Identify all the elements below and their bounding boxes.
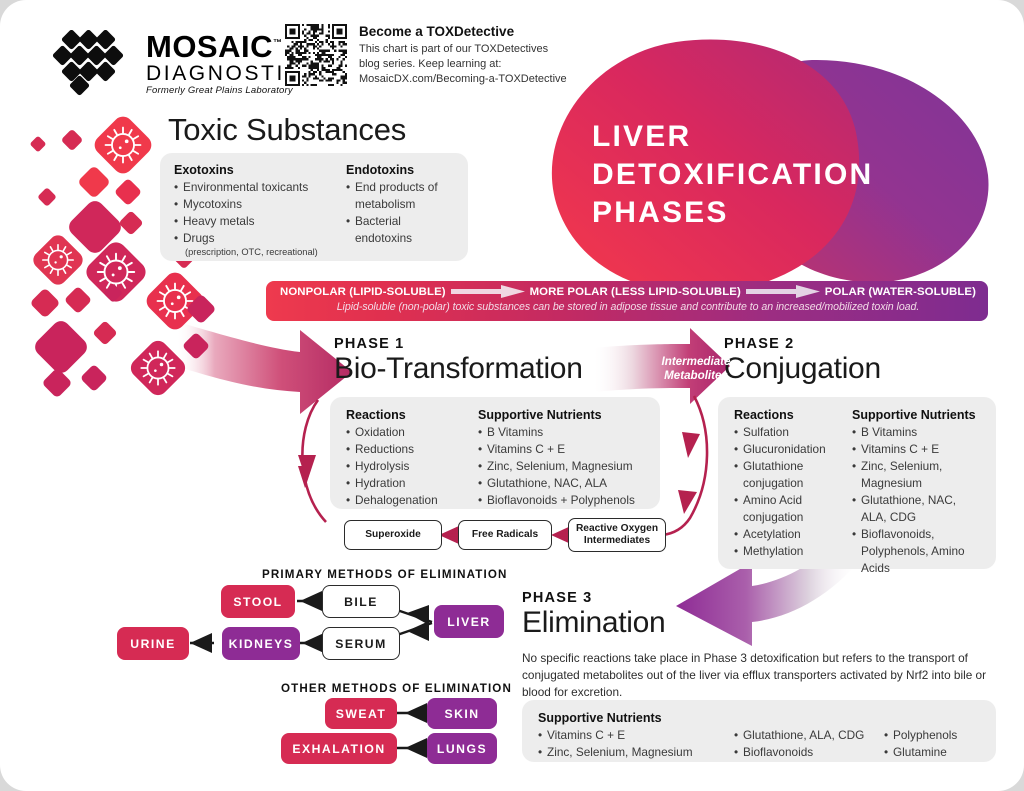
phase2-detail-box: Reactions Sulfation Glucuronidation Glut… <box>718 397 996 569</box>
promo-url[interactable]: MosaicDX.com/Becoming-a-TOXDetective <box>359 72 567 87</box>
exotoxins-list: Environmental toxicants Mycotoxins Heavy… <box>174 179 330 258</box>
mosaic-diamond-logo-icon <box>48 30 132 96</box>
list-item: Hydrolysis <box>346 458 478 475</box>
toxin-germ-particle <box>90 112 155 177</box>
exotoxins-fineprint: (prescription, OTC, recreational) <box>183 247 330 258</box>
phase1-kicker: PHASE 1 <box>334 336 583 352</box>
phase3-nutrients-col3: Polyphenols Glutamine <box>884 727 957 761</box>
arrow-right-icon <box>746 285 820 298</box>
phase1-nutrients-list: B Vitamins Vitamins C + E Zinc, Selenium… <box>478 424 635 509</box>
toxic-substances-heading: Toxic Substances <box>168 112 406 148</box>
phase1-detail-box: Reactions Oxidation Reductions Hydrolysi… <box>330 397 660 509</box>
list-item: Reductions <box>346 441 478 458</box>
polarity-label-more-polar: MORE POLAR (LESS LIPID-SOLUBLE) <box>530 286 741 298</box>
hero-title-line-3: PHASES <box>592 194 873 232</box>
qr-code-icon[interactable] <box>285 24 347 86</box>
chip-free-radicals: Free Radicals <box>458 520 552 550</box>
toxin-particle <box>30 136 47 153</box>
phase2-kicker: PHASE 2 <box>724 336 881 352</box>
primary-elimination-heading: PRIMARY METHODS OF ELIMINATION <box>262 568 508 581</box>
node-liver: LIVER <box>434 605 504 638</box>
polarity-label-nonpolar: NONPOLAR (LIPID-SOLUBLE) <box>280 286 446 298</box>
phase1-reactions-title: Reactions <box>346 408 478 422</box>
promo-line-2: blog series. Keep learning at: <box>359 57 567 72</box>
endotoxins-column: Endotoxins End products of metabolism Ba… <box>346 163 454 251</box>
list-item: Bacterial endotoxins <box>346 213 454 247</box>
list-item: Acetylation <box>734 526 852 543</box>
list-item: Vitamins C + E <box>538 727 734 744</box>
phase1-reactions-column: Reactions Oxidation Reductions Hydrolysi… <box>346 408 478 509</box>
phase1-nutrients-title: Supportive Nutrients <box>478 408 635 422</box>
infographic-canvas: MOSAIC™ DIAGNOSTICS Formerly Great Plain… <box>0 0 1024 791</box>
toxin-particle <box>31 317 90 376</box>
promo-title: Become a TOXDetective <box>359 24 567 39</box>
phase2-nutrients-column: Supportive Nutrients B Vitamins Vitamins… <box>852 408 976 577</box>
list-item: Glutamine <box>884 744 957 761</box>
toxin-particle <box>118 210 143 235</box>
phase2-nutrients-list: B Vitamins Vitamins C + E Zinc, Selenium… <box>852 424 974 577</box>
list-item: Dehalogenation <box>346 492 478 509</box>
list-item: B Vitamins <box>478 424 635 441</box>
phase3-header: PHASE 3 Elimination <box>522 590 665 640</box>
hero-title-line-2: DETOXIFICATION <box>592 156 873 194</box>
list-item: Vitamins C + E <box>478 441 635 458</box>
list-item: Methylation <box>734 543 852 560</box>
list-item: End products of metabolism <box>346 179 454 213</box>
toxin-particle <box>61 129 84 152</box>
phase3-nutrients-col2: Glutathione, ALA, CDG Bioflavonoids <box>734 727 884 761</box>
chip-reactive-oxygen-intermediates: Reactive Oxygen Intermediates <box>568 518 666 552</box>
hero-title-line-1: LIVER <box>592 118 873 156</box>
phase3-title: Elimination <box>522 606 665 640</box>
list-item: Zinc, Selenium, Magnesium <box>538 744 734 761</box>
list-item: Zinc, Selenium, Magnesium <box>852 458 974 492</box>
toxin-particle <box>37 187 57 207</box>
other-elimination-heading: OTHER METHODS OF ELIMINATION <box>281 682 512 695</box>
list-item: Zinc, Selenium, Magnesium <box>478 458 635 475</box>
node-bile: BILE <box>322 585 400 618</box>
list-item: Glutathione conjugation <box>734 458 852 492</box>
phase2-nutrients-title: Supportive Nutrients <box>852 408 976 422</box>
promo-line-1: This chart is part of our TOXDetectives <box>359 42 567 57</box>
intermediate-metabolites-label: Intermediate Metabolites <box>648 355 744 384</box>
polarity-banner: NONPOLAR (LIPID-SOLUBLE) MORE POLAR (LES… <box>266 281 988 321</box>
toxin-particle <box>77 165 111 199</box>
toxin-particle <box>64 286 92 314</box>
phase2-reactions-title: Reactions <box>734 408 852 422</box>
phase3-nutrients-title: Supportive Nutrients <box>538 711 980 725</box>
list-item: Polyphenols <box>884 727 957 744</box>
toxin-particle <box>41 367 72 398</box>
list-item: Hydration <box>346 475 478 492</box>
list-item: Drugs(prescription, OTC, recreational) <box>174 230 330 258</box>
toxin-particle <box>92 320 117 345</box>
node-stool: STOOL <box>221 585 295 618</box>
list-item: Bioflavonoids <box>734 744 884 761</box>
phase1-nutrients-column: Supportive Nutrients B Vitamins Vitamins… <box>478 408 635 509</box>
phase1-title: Bio-Transformation <box>334 352 583 386</box>
phase3-nutrients-col1: Vitamins C + E Zinc, Selenium, Magnesium <box>538 727 734 761</box>
hero-title: LIVER DETOXIFICATION PHASES <box>592 118 873 231</box>
node-kidneys: KIDNEYS <box>222 627 300 660</box>
list-item: Glutathione, NAC, ALA, CDG <box>852 492 974 526</box>
node-serum: SERUM <box>322 627 400 660</box>
list-item: Glucuronidation <box>734 441 852 458</box>
list-item: Environmental toxicants <box>174 179 330 196</box>
toxic-substances-box: Exotoxins Environmental toxicants Mycoto… <box>160 153 468 261</box>
polarity-label-polar: POLAR (WATER-SOLUBLE) <box>825 286 976 298</box>
phase2-title: Conjugation <box>724 352 881 386</box>
node-sweat: SWEAT <box>325 698 397 729</box>
exotoxins-title: Exotoxins <box>174 163 330 177</box>
phase3-nutrients-box: Supportive Nutrients Vitamins C + E Zinc… <box>522 700 996 762</box>
toxin-particle <box>80 364 108 392</box>
list-item: Sulfation <box>734 424 852 441</box>
phase1-header: PHASE 1 Bio-Transformation <box>334 336 583 386</box>
toxin-particle <box>29 287 60 318</box>
phase1-reactions-list: Oxidation Reductions Hydrolysis Hydratio… <box>346 424 478 509</box>
toxin-particle <box>114 178 142 206</box>
node-skin: SKIN <box>427 698 497 729</box>
arrow-right-icon <box>451 285 525 298</box>
trademark-mark: ™ <box>273 37 283 47</box>
list-item: Vitamins C + E <box>852 441 974 458</box>
list-item: Bioflavonoids + Polyphenols <box>478 492 635 509</box>
elimination-connectors <box>190 601 432 748</box>
polarity-note: Lipid-soluble (non-polar) toxic substanc… <box>280 301 976 313</box>
toxin-germ-particle <box>30 232 87 289</box>
brand-tagline: Formerly Great Plains Laboratory <box>146 86 319 96</box>
toxin-particle <box>182 332 210 360</box>
toxdetective-promo[interactable]: Become a TOXDetective This chart is part… <box>285 24 567 87</box>
list-item: Amino Acid conjugation <box>734 492 852 526</box>
list-item: Heavy metals <box>174 213 330 230</box>
list-item: Glutathione, NAC, ALA <box>478 475 635 492</box>
list-item: Bioflavonoids, Polyphenols, Amino Acids <box>852 526 974 577</box>
phase3-note: No specific reactions take place in Phas… <box>522 650 1002 700</box>
phase2-reactions-column: Reactions Sulfation Glucuronidation Glut… <box>734 408 852 577</box>
brand-logo: MOSAIC™ DIAGNOSTICS Formerly Great Plain… <box>48 30 319 96</box>
exotoxins-column: Exotoxins Environmental toxicants Mycoto… <box>174 163 330 251</box>
node-urine: URINE <box>117 627 189 660</box>
endotoxins-list: End products of metabolism Bacterial end… <box>346 179 454 247</box>
endotoxins-title: Endotoxins <box>346 163 454 177</box>
list-item: Glutathione, ALA, CDG <box>734 727 884 744</box>
phase2-reactions-list: Sulfation Glucuronidation Glutathione co… <box>734 424 852 560</box>
list-item: B Vitamins <box>852 424 974 441</box>
phase2-header: PHASE 2 Conjugation <box>724 336 881 386</box>
list-item: Mycotoxins <box>174 196 330 213</box>
list-item: Oxidation <box>346 424 478 441</box>
chip-superoxide: Superoxide <box>344 520 442 550</box>
node-lungs: LUNGS <box>427 733 497 764</box>
toxin-germ-particle <box>127 337 189 399</box>
phase3-kicker: PHASE 3 <box>522 590 665 606</box>
node-exhalation: EXHALATION <box>281 733 397 764</box>
